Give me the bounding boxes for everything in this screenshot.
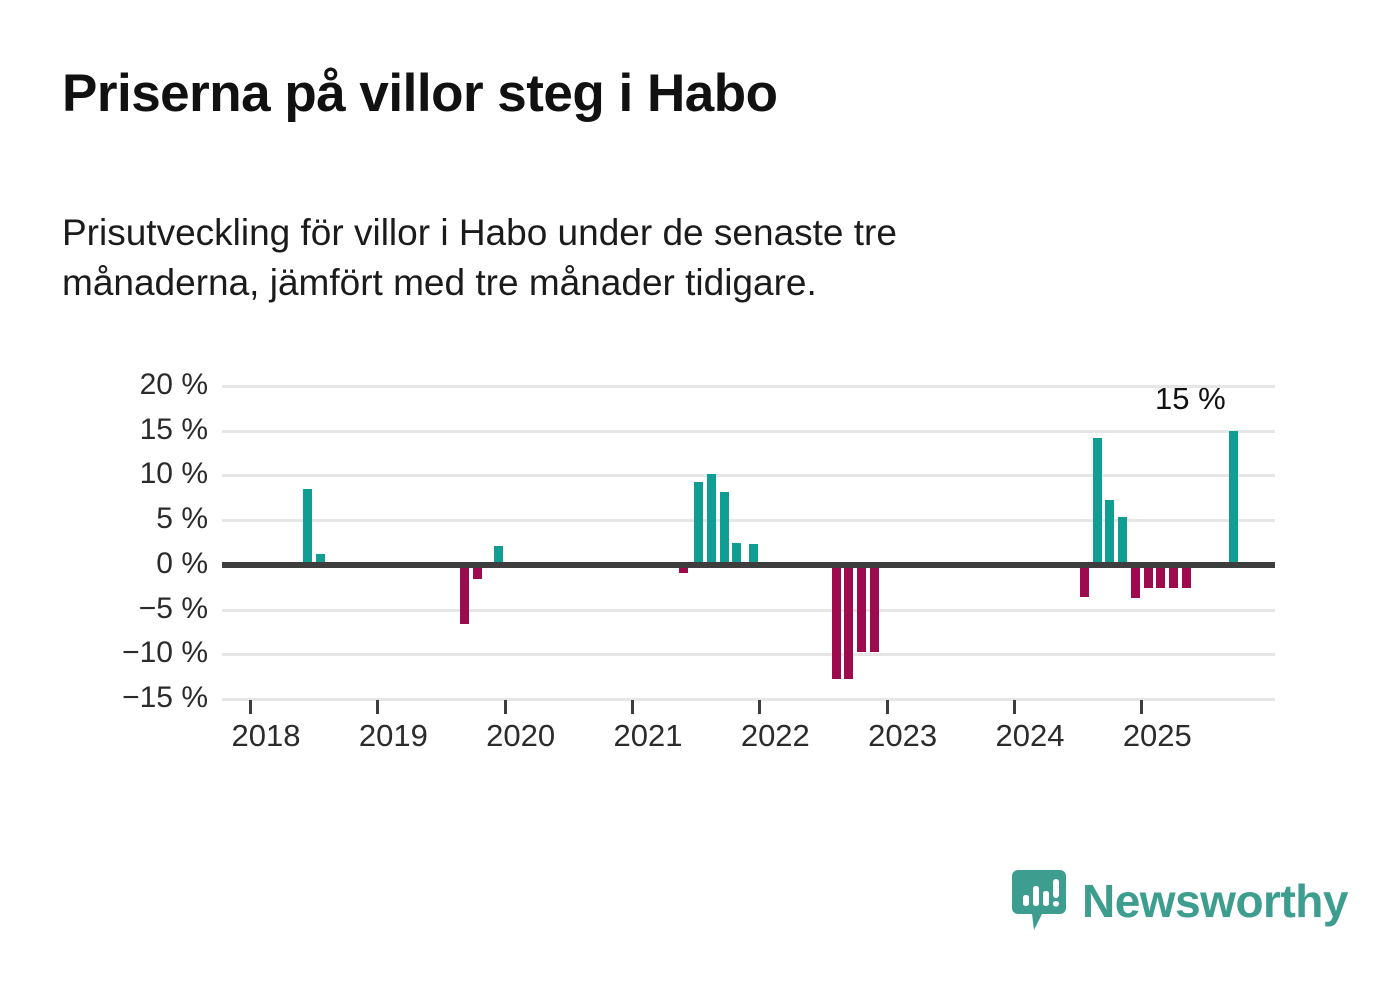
x-axis-tick-label: 2021 bbox=[614, 718, 683, 754]
x-axis-tick-label: 2019 bbox=[359, 718, 428, 754]
gridline bbox=[222, 519, 1275, 522]
y-axis-tick-label: 0 % bbox=[78, 549, 208, 579]
x-axis-tick bbox=[631, 700, 634, 714]
bar bbox=[1105, 500, 1114, 564]
y-axis-tick-label: 15 % bbox=[78, 415, 208, 445]
gridline bbox=[222, 385, 1275, 388]
x-axis-tick-label: 2024 bbox=[995, 718, 1064, 754]
bar bbox=[1093, 438, 1102, 565]
y-axis-tick-label: −5 % bbox=[78, 594, 208, 624]
infographic-page: Priserna på villor steg i Habo Prisutvec… bbox=[0, 0, 1382, 999]
bar bbox=[870, 565, 879, 653]
x-axis-tick bbox=[376, 700, 379, 714]
x-axis-tick bbox=[249, 700, 252, 714]
x-axis-tick-label: 2020 bbox=[486, 718, 555, 754]
bar bbox=[1169, 565, 1178, 588]
bar-chart: 20 %15 %10 %5 %0 %−5 %−10 %−15 %20182019… bbox=[0, 0, 1382, 999]
logo-wordmark: Newsworthy bbox=[1082, 878, 1348, 924]
gridline bbox=[222, 474, 1275, 477]
y-axis-tick-label: 10 % bbox=[78, 459, 208, 489]
x-axis-tick-label: 2022 bbox=[741, 718, 810, 754]
bar bbox=[857, 565, 866, 653]
x-axis-tick-label: 2018 bbox=[232, 718, 301, 754]
value-callout: 15 % bbox=[1155, 381, 1226, 417]
bar bbox=[1118, 517, 1127, 564]
x-axis-tick-label: 2025 bbox=[1123, 718, 1192, 754]
y-axis-tick-label: −10 % bbox=[78, 638, 208, 668]
bar bbox=[1229, 431, 1238, 565]
x-axis-tick bbox=[1013, 700, 1016, 714]
x-axis-tick bbox=[886, 700, 889, 714]
bar bbox=[694, 482, 703, 565]
y-axis-tick-label: −15 % bbox=[78, 683, 208, 713]
zero-axis-line bbox=[222, 562, 1275, 568]
x-axis-tick-label: 2023 bbox=[868, 718, 937, 754]
bar bbox=[707, 474, 716, 565]
gridline bbox=[222, 430, 1275, 433]
x-axis-tick bbox=[758, 700, 761, 714]
gridline bbox=[222, 609, 1275, 612]
bar bbox=[1080, 565, 1089, 597]
gridline bbox=[222, 698, 1275, 701]
bar bbox=[1156, 565, 1165, 588]
bar bbox=[1182, 565, 1191, 588]
bar bbox=[720, 492, 729, 564]
y-axis-tick-label: 20 % bbox=[78, 370, 208, 400]
plot-area bbox=[222, 386, 1275, 699]
bar bbox=[460, 565, 469, 624]
newsworthy-logo: Newsworthy bbox=[1010, 868, 1348, 934]
bar bbox=[1144, 565, 1153, 588]
bar bbox=[1131, 565, 1140, 598]
chart-bubble-icon bbox=[1010, 868, 1068, 934]
bar bbox=[303, 489, 312, 565]
gridline bbox=[222, 653, 1275, 656]
x-axis-tick bbox=[504, 700, 507, 714]
bar bbox=[832, 565, 841, 679]
x-axis-tick bbox=[1140, 700, 1143, 714]
y-axis-tick-label: 5 % bbox=[78, 504, 208, 534]
bar bbox=[844, 565, 853, 679]
